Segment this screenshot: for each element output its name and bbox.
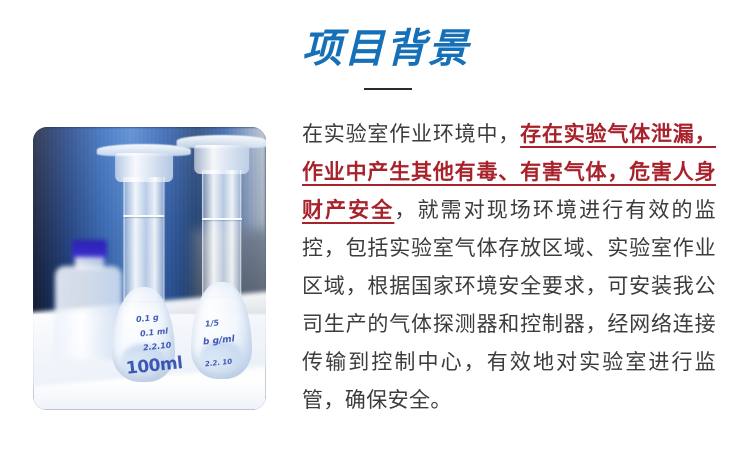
flask-neck xyxy=(123,177,164,301)
section-title: 项目背景 xyxy=(302,26,716,72)
flask-graduation-mark xyxy=(123,215,165,217)
content-column: 项目背景 在实验室作业环境中，存在实验气体泄漏，作业中产生其他有毒、有害气体，危… xyxy=(302,26,716,419)
flask-neck xyxy=(202,170,242,297)
body-text-part-1: 在实验室作业环境中， xyxy=(302,122,520,146)
title-divider xyxy=(364,88,412,90)
lab-photo-scene: 0.1 g 0.1 ml 2.2.10 100ml 1/5 b g/ml 2.2… xyxy=(33,127,266,410)
flask-graduation-mark xyxy=(202,218,242,220)
body-text-part-2: ，就需对现场环境进行有效的监控，包括实验室气体存放区域、实验室作业区域，根据国家… xyxy=(302,198,716,412)
lab-photo: 0.1 g 0.1 ml 2.2.10 100ml 1/5 b g/ml 2.2… xyxy=(33,127,266,410)
body-paragraph: 在实验室作业环境中，存在实验气体泄漏，作业中产生其他有毒、有害气体，危害人身财产… xyxy=(302,115,716,419)
